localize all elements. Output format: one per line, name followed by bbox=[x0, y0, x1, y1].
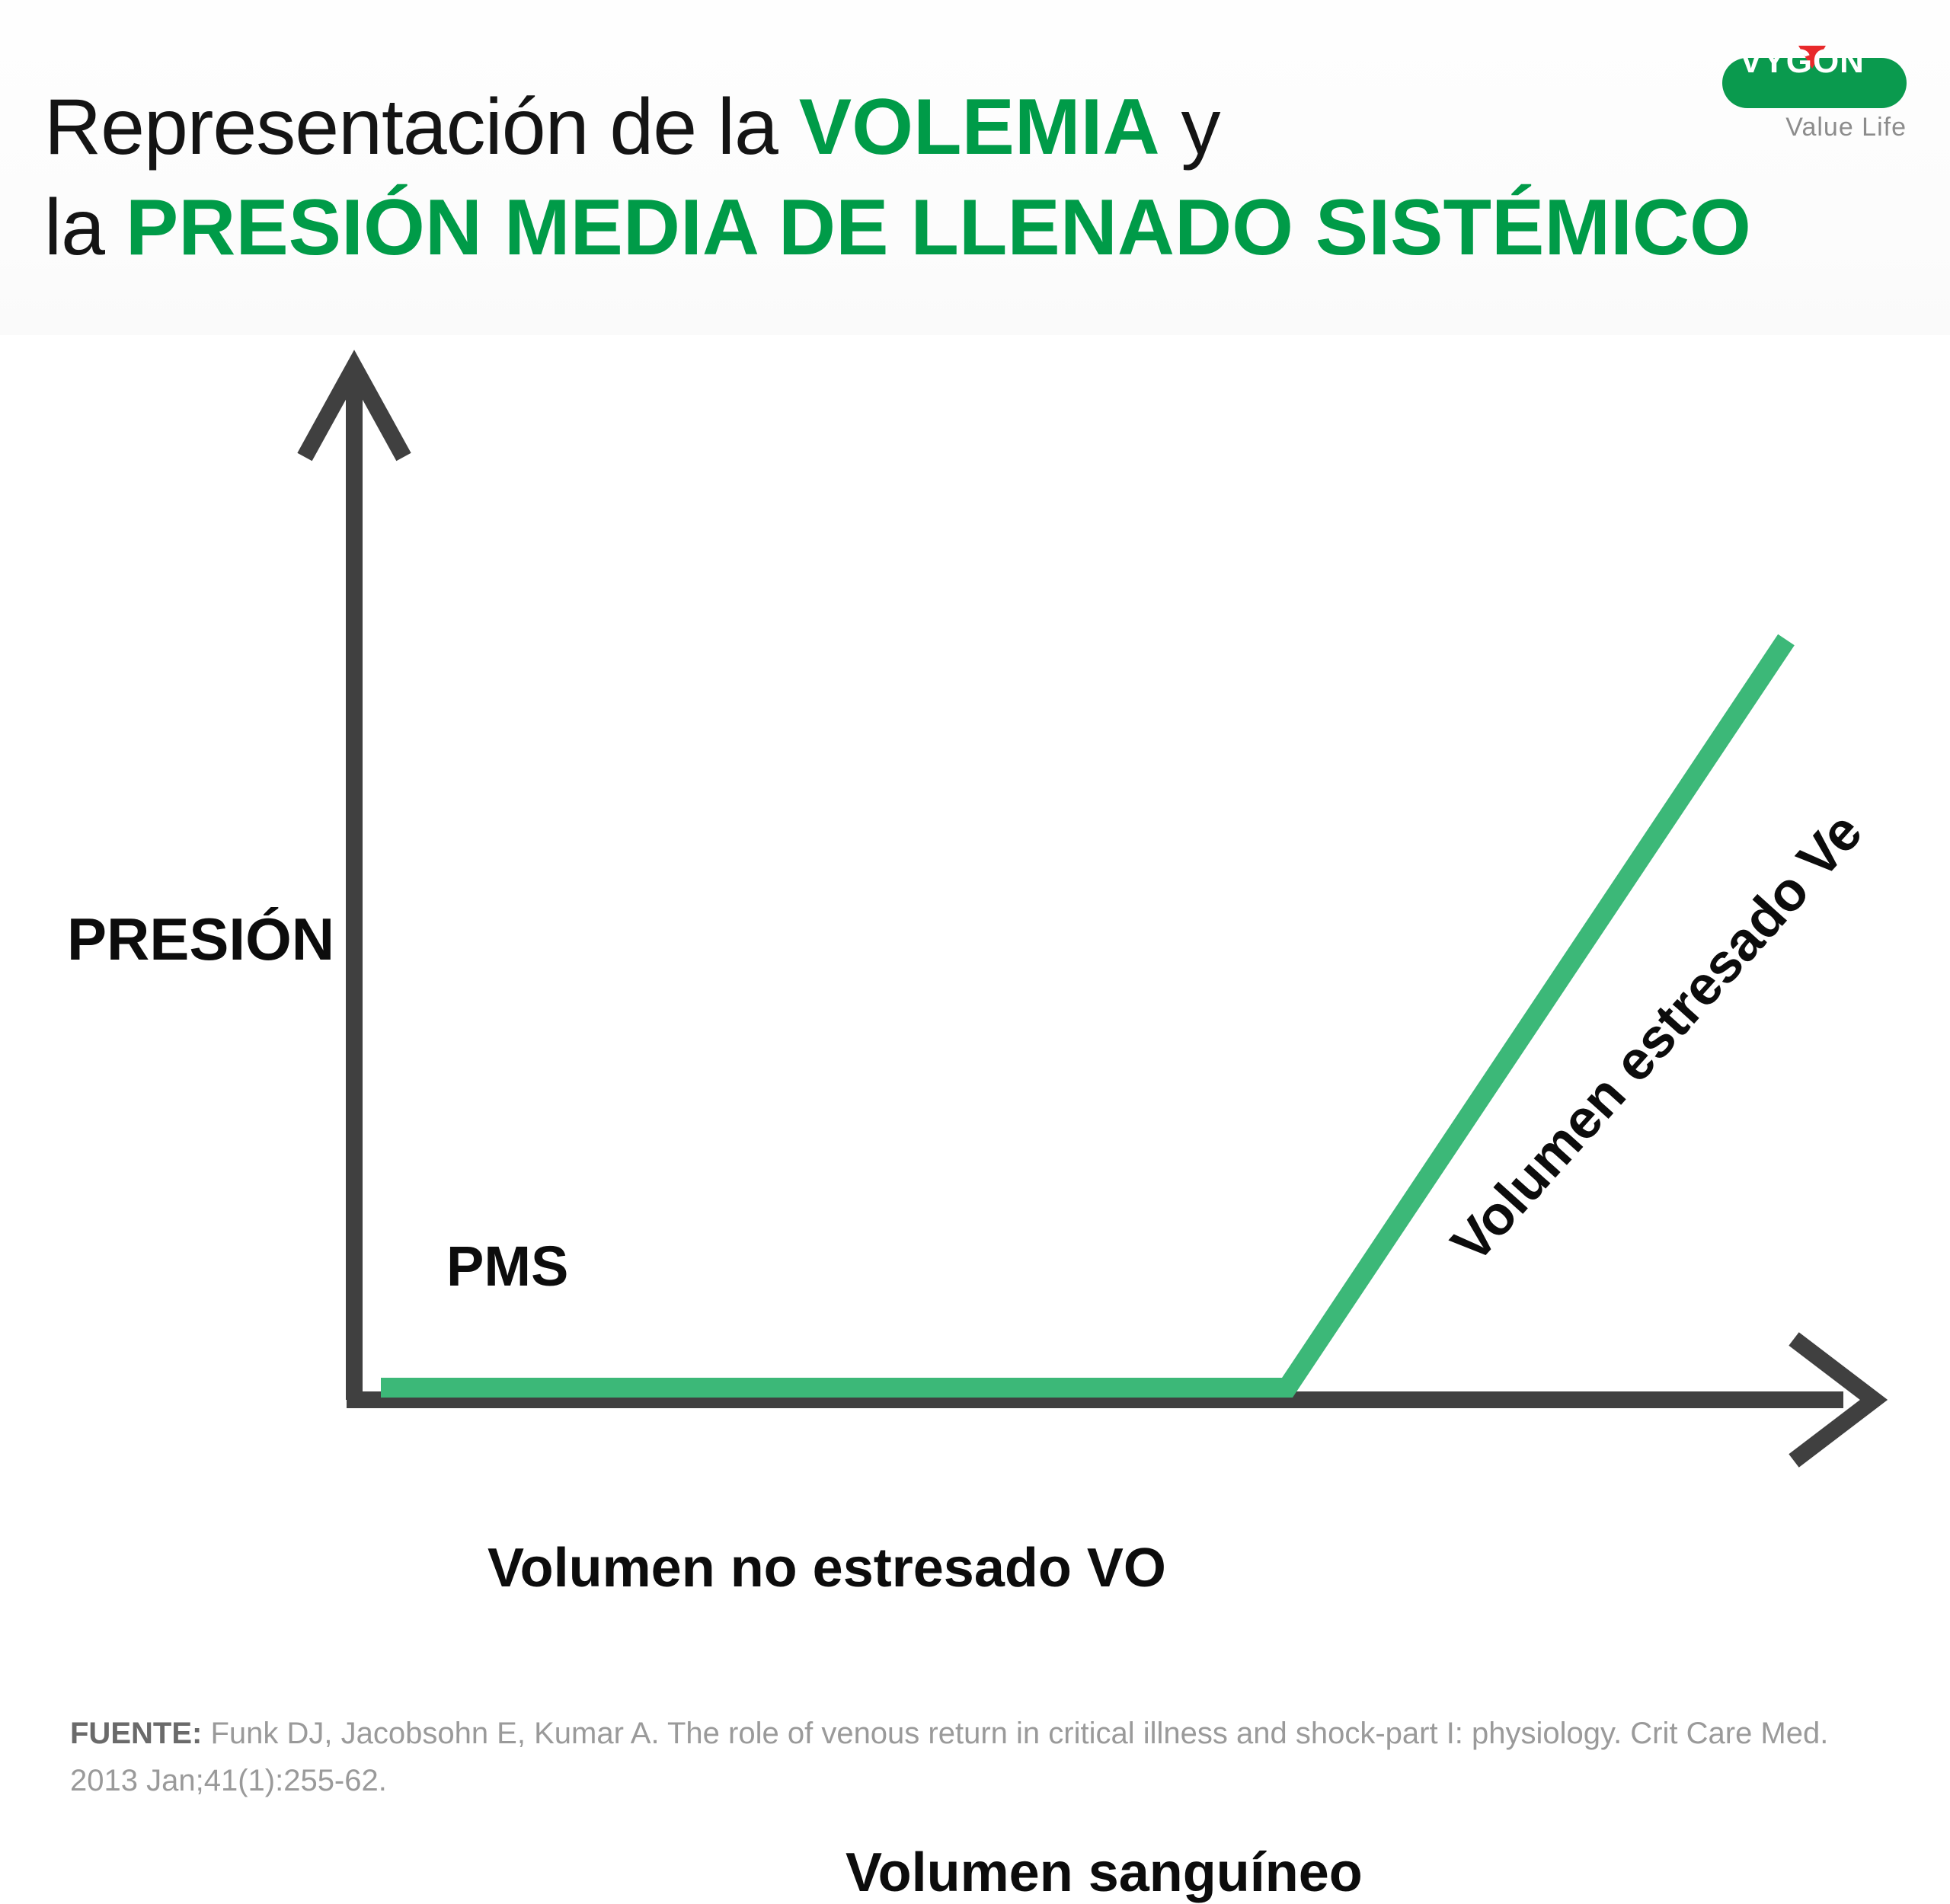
header-band: Representación de la VOLEMIA y la PRESIÓ… bbox=[0, 0, 1950, 335]
footer-band: FUENTE: Funk DJ, Jacobsohn E, Kumar A. T… bbox=[0, 1615, 1950, 1829]
source-text: Funk DJ, Jacobsohn E, Kumar A. The role … bbox=[70, 1717, 1828, 1797]
source-citation: FUENTE: Funk DJ, Jacobsohn E, Kumar A. T… bbox=[70, 1710, 1883, 1804]
source-label: FUENTE: bbox=[70, 1717, 202, 1750]
title-line-1: Representación de la VOLEMIA y bbox=[44, 82, 1644, 172]
logo-wordmark: VYGON bbox=[1710, 37, 1894, 87]
title-part-accent-pms: PRESIÓN MEDIA DE LLENADO SISTÉMICO bbox=[126, 184, 1751, 272]
title-part-plain-b: y bbox=[1160, 83, 1220, 171]
page-title: Representación de la VOLEMIA y la PRESIÓ… bbox=[44, 82, 1644, 273]
title-part-accent-volemia: VOLEMIA bbox=[799, 83, 1160, 171]
annotation-pms: PMS bbox=[446, 1234, 568, 1299]
y-axis-label: PRESIÓN bbox=[67, 905, 334, 974]
pms-curve bbox=[381, 640, 1786, 1388]
title-part-plain-la: la bbox=[44, 184, 126, 272]
annotation-unstressed-volume: Volumen no estresado VO bbox=[487, 1537, 1166, 1599]
logo-tagline: Value Life bbox=[1722, 113, 1907, 142]
x-axis-label: Volumen sanguíneo bbox=[846, 1842, 1363, 1904]
vygon-logo[interactable]: VYGON Value Life bbox=[1710, 37, 1920, 149]
title-part-plain-a: Representación de la bbox=[44, 83, 799, 171]
title-line-2: la PRESIÓN MEDIA DE LLENADO SISTÉMICO bbox=[44, 183, 1644, 273]
chart-svg bbox=[0, 335, 1950, 1615]
chart-area: PRESIÓN PMS Volumen no estresado VO Volu… bbox=[0, 335, 1950, 1615]
